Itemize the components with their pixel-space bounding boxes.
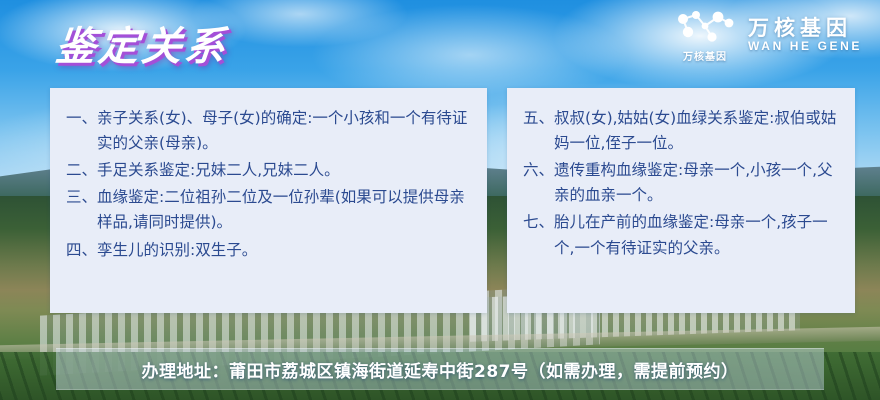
list-item-number: 六、 bbox=[523, 158, 554, 208]
brand-mark: 万核基因 bbox=[674, 8, 736, 63]
list-item-number: 二、 bbox=[66, 158, 97, 183]
brand-mark-label: 万核基因 bbox=[683, 48, 727, 63]
brand-name-cn: 万核基因 bbox=[748, 18, 862, 40]
brand-words: 万核基因 WAN HE GENE bbox=[748, 18, 862, 53]
poster-canvas: 鉴定关系 bbox=[0, 0, 880, 400]
molecule-icon bbox=[674, 8, 736, 46]
brand-name-en: WAN HE GENE bbox=[748, 40, 862, 53]
address-text: 办理地址：莆田市荔城区镇海街道延寿中街287号（如需办理，需提前预约） bbox=[142, 357, 739, 382]
list-item-number: 五、 bbox=[523, 106, 554, 156]
list-item: 五、 叔叔(女),姑姑(女)血绿关系鉴定:叔伯或姑妈一位,侄子一位。 bbox=[523, 106, 841, 156]
brand-lockup: 万核基因 万核基因 WAN HE GENE bbox=[674, 8, 862, 63]
list-item-text: 亲子关系(女)、母子(女)的确定:一个小孩和一个有待证实的父亲(母亲)。 bbox=[97, 106, 473, 156]
list-item-number: 一、 bbox=[66, 106, 97, 156]
list-item-number: 七、 bbox=[523, 210, 554, 260]
list-item-number: 四、 bbox=[66, 238, 97, 263]
address-bar: 办理地址：莆田市荔城区镇海街道延寿中街287号（如需办理，需提前预约） bbox=[56, 348, 824, 390]
list-item-text: 血缘鉴定:二位祖孙二位及一位孙辈(如果可以提供母亲样品,请同时提供)。 bbox=[97, 185, 473, 235]
list-item: 二、 手足关系鉴定:兄妹二人,兄妹二人。 bbox=[66, 158, 473, 183]
list-item: 三、 血缘鉴定:二位祖孙二位及一位孙辈(如果可以提供母亲样品,请同时提供)。 bbox=[66, 185, 473, 235]
list-item: 七、 胎儿在产前的血缘鉴定:母亲一个,孩子一个,一个有待证实的父亲。 bbox=[523, 210, 841, 260]
list-item-text: 手足关系鉴定:兄妹二人,兄妹二人。 bbox=[97, 158, 473, 183]
panel-left: 一、 亲子关系(女)、母子(女)的确定:一个小孩和一个有待证实的父亲(母亲)。 … bbox=[50, 88, 487, 313]
page-title: 鉴定关系 bbox=[53, 14, 231, 72]
list-item: 一、 亲子关系(女)、母子(女)的确定:一个小孩和一个有待证实的父亲(母亲)。 bbox=[66, 106, 473, 156]
list-item-text: 孪生儿的识别:双生子。 bbox=[97, 238, 473, 263]
panel-right: 五、 叔叔(女),姑姑(女)血绿关系鉴定:叔伯或姑妈一位,侄子一位。 六、 遗传… bbox=[507, 88, 855, 313]
content-panels: 一、 亲子关系(女)、母子(女)的确定:一个小孩和一个有待证实的父亲(母亲)。 … bbox=[50, 88, 855, 313]
list-item-text: 遗传重构血缘鉴定:母亲一个,小孩一个,父亲的血亲一个。 bbox=[554, 158, 841, 208]
list-item-text: 胎儿在产前的血缘鉴定:母亲一个,孩子一个,一个有待证实的父亲。 bbox=[554, 210, 841, 260]
list-item-number: 三、 bbox=[66, 185, 97, 235]
list-item-text: 叔叔(女),姑姑(女)血绿关系鉴定:叔伯或姑妈一位,侄子一位。 bbox=[554, 106, 841, 156]
list-item: 六、 遗传重构血缘鉴定:母亲一个,小孩一个,父亲的血亲一个。 bbox=[523, 158, 841, 208]
list-item: 四、 孪生儿的识别:双生子。 bbox=[66, 238, 473, 263]
